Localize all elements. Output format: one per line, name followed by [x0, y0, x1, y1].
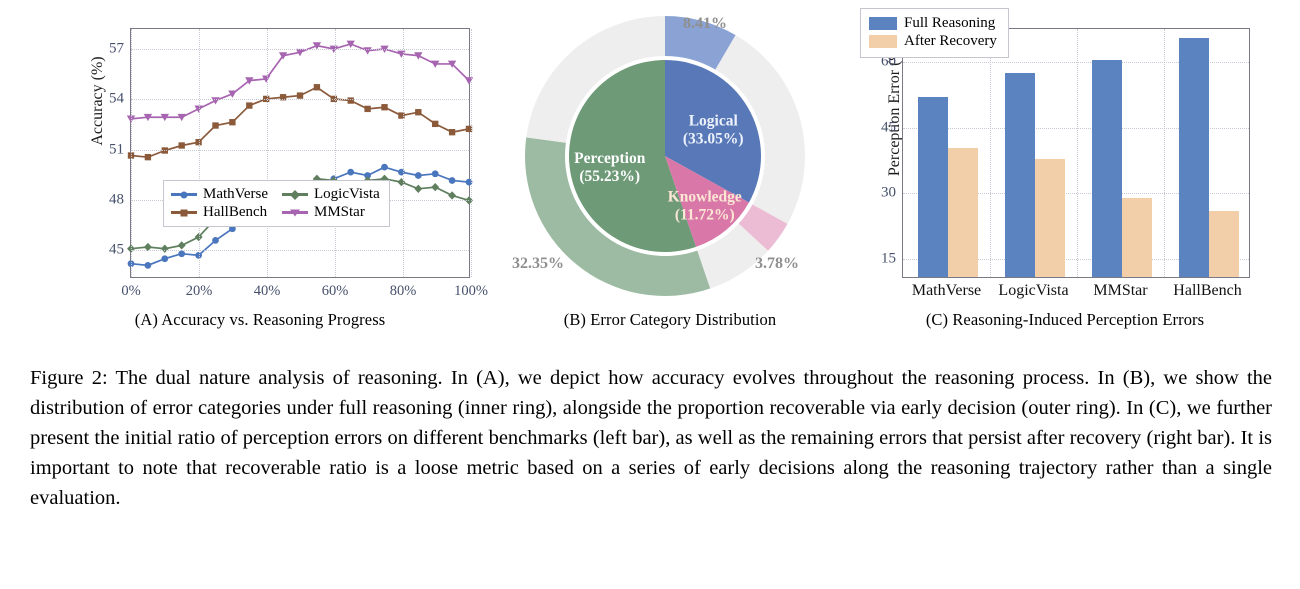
panel-a-x-tick: 0%: [121, 283, 140, 300]
donut-label-perception: Perception(55.23%): [574, 150, 646, 185]
data-point: [449, 129, 455, 135]
panel-a-y-tick: 57: [109, 41, 124, 58]
bar-hallbench-full-reasoning: [1179, 38, 1209, 277]
data-point: [212, 122, 218, 128]
legend-marker-triangle-down-icon: [290, 209, 300, 216]
panel-a-y-tick: 45: [109, 242, 124, 259]
legend-line-swatch: [282, 211, 308, 213]
panel-a-plot-area: Accuracy (%) 45485154570%20%40%60%80%100…: [30, 0, 490, 310]
panel-a-legend: MathVerseLogicVistaHallBenchMMStar: [163, 180, 390, 227]
gridline: [403, 29, 404, 277]
data-point: [381, 104, 387, 110]
panel-a-y-tick: 48: [109, 192, 124, 209]
panel-c-legend-item[interactable]: After Recovery: [869, 33, 997, 50]
gridline: [335, 29, 336, 277]
data-point: [145, 154, 151, 160]
panel-a-axes: 45485154570%20%40%60%80%100%: [130, 28, 470, 278]
panel-b-donut-svg: Logical(33.05%)Knowledge(11.72%)Percepti…: [490, 6, 850, 306]
bar-mmstar-full-reasoning: [1092, 60, 1122, 277]
data-point: [246, 102, 252, 108]
panel-c-plot-area: Perception Error (%) 15304560MathVerseLo…: [850, 0, 1280, 310]
data-point: [415, 172, 422, 179]
panel-b-plot-area: Logical(33.05%)Knowledge(11.72%)Percepti…: [490, 6, 850, 306]
panel-c-legend-label: Full Reasoning: [904, 15, 995, 32]
bar-logicvista-full-reasoning: [1005, 73, 1035, 277]
legend-color-swatch: [869, 17, 897, 30]
panel-c-caption: (C) Reasoning-Induced Perception Errors: [850, 310, 1280, 330]
data-point: [449, 177, 456, 184]
bar-hallbench-after-recovery: [1209, 211, 1239, 277]
data-point: [178, 241, 186, 249]
gridline: [199, 29, 200, 277]
panel-a-legend-item[interactable]: LogicVista: [282, 186, 380, 203]
panel-a-legend-label: LogicVista: [314, 186, 380, 203]
panel-c-x-tick: MMStar: [1093, 282, 1147, 300]
data-point: [431, 183, 439, 191]
panel-b-donut-chart: Logical(33.05%)Knowledge(11.72%)Percepti…: [490, 0, 850, 352]
data-point: [161, 255, 168, 262]
gridline: [471, 29, 472, 277]
panel-c-y-tick: 15: [881, 251, 896, 268]
panel-c-legend-label: After Recovery: [904, 33, 997, 50]
legend-marker-circle-icon: [181, 191, 188, 198]
panel-a-legend-item[interactable]: HallBench: [171, 204, 268, 221]
panel-a-caption: (A) Accuracy vs. Reasoning Progress: [30, 310, 490, 330]
panel-c-axes: 15304560MathVerseLogicVistaMMStarHallBen…: [902, 28, 1250, 278]
legend-line-swatch: [282, 193, 308, 195]
data-point: [381, 164, 388, 171]
panel-a-legend-item[interactable]: MMStar: [282, 204, 380, 221]
data-point: [432, 121, 438, 127]
panel-c-y-tick: 45: [881, 119, 896, 136]
data-point: [161, 245, 169, 253]
panel-c-x-tick: HallBench: [1173, 282, 1241, 300]
gridline: [131, 29, 132, 277]
panel-a-line-chart: Accuracy (%) 45485154570%20%40%60%80%100…: [30, 0, 490, 352]
data-point: [432, 170, 439, 177]
panel-b-caption: (B) Error Category Distribution: [490, 310, 850, 330]
panel-a-legend-label: MMStar: [314, 204, 365, 221]
panel-a-y-tick: 54: [109, 91, 124, 108]
data-point: [448, 191, 456, 199]
data-point: [212, 237, 219, 244]
panel-a-x-tick: 20%: [186, 283, 213, 300]
gridline: [1077, 29, 1078, 277]
panel-a-legend-label: MathVerse: [203, 186, 268, 203]
donut-outer-label-knowledge: 3.78%: [755, 255, 799, 272]
donut-label-logical: Logical(33.05%): [683, 113, 744, 148]
data-point: [211, 97, 219, 104]
legend-marker-diamond-icon: [290, 190, 300, 200]
data-point: [397, 178, 405, 186]
panel-a-series-svg: [131, 29, 469, 277]
donut-outer-label-perception: 32.35%: [512, 255, 564, 272]
donut-label-knowledge: Knowledge(11.72%): [668, 189, 742, 224]
panel-c-x-tick: MathVerse: [912, 282, 981, 300]
panel-a-x-tick: 100%: [454, 283, 488, 300]
panel-c-y-tick: 30: [881, 185, 896, 202]
panel-c-bar-chart: Perception Error (%) 15304560MathVerseLo…: [850, 0, 1280, 352]
panel-a-y-tick: 51: [109, 141, 124, 158]
bar-mmstar-after-recovery: [1122, 198, 1152, 277]
figure-caption: Figure 2: The dual nature analysis of re…: [30, 364, 1272, 514]
panel-c-legend-item[interactable]: Full Reasoning: [869, 15, 997, 32]
gridline: [1164, 29, 1165, 277]
legend-line-swatch: [171, 193, 197, 195]
data-point: [347, 169, 354, 176]
legend-line-swatch: [171, 211, 197, 213]
panel-a-legend-item[interactable]: MathVerse: [171, 186, 268, 203]
legend-color-swatch: [869, 35, 897, 48]
gridline: [131, 49, 469, 50]
data-point: [364, 106, 370, 112]
bar-mathverse-full-reasoning: [918, 97, 948, 277]
data-point: [314, 84, 320, 90]
panel-a-x-tick: 60%: [322, 283, 349, 300]
gridline: [131, 150, 469, 151]
data-point: [415, 109, 421, 115]
data-point: [348, 97, 354, 103]
panel-a-x-tick: 40%: [254, 283, 281, 300]
panel-c-x-tick: LogicVista: [998, 282, 1068, 300]
gridline: [267, 29, 268, 277]
donut-outer-label-logical: 8.41%: [683, 15, 727, 32]
gridline: [131, 99, 469, 100]
panel-a-y-axis-label: Accuracy (%): [89, 21, 107, 181]
figure-2: Accuracy (%) 45485154570%20%40%60%80%100…: [0, 0, 1300, 589]
panel-a-x-tick: 80%: [390, 283, 417, 300]
bar-mathverse-after-recovery: [948, 148, 978, 277]
data-point: [414, 185, 422, 193]
panels-row: Accuracy (%) 45485154570%20%40%60%80%100…: [0, 0, 1300, 352]
data-point: [145, 262, 152, 269]
panel-a-legend-label: HallBench: [203, 204, 267, 221]
panel-c-legend: Full ReasoningAfter Recovery: [860, 8, 1009, 58]
bar-logicvista-after-recovery: [1035, 159, 1065, 277]
data-point: [297, 92, 303, 98]
gridline: [131, 250, 469, 251]
legend-marker-square-icon: [181, 209, 188, 216]
gridline: [990, 29, 991, 277]
data-point: [179, 142, 185, 148]
data-point: [229, 119, 235, 125]
